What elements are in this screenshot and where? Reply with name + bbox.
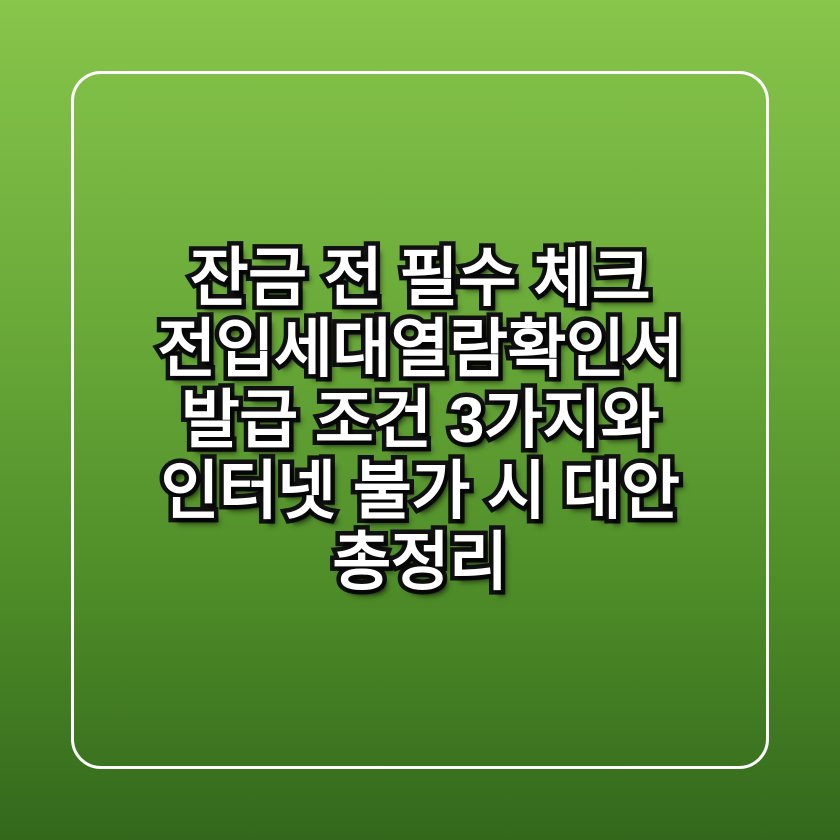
headline-line-2: 전입세대열람확인서 bbox=[78, 314, 762, 385]
headline-line-5: 총정리 bbox=[78, 527, 762, 598]
thumbnail-card: 잔금 전 필수 체크 전입세대열람확인서 발급 조건 3가지와 인터넷 불가 시… bbox=[0, 0, 840, 840]
headline-line-1: 잔금 전 필수 체크 bbox=[78, 243, 762, 314]
headline-line-3: 발급 조건 3가지와 bbox=[78, 385, 762, 456]
headline-block: 잔금 전 필수 체크 전입세대열람확인서 발급 조건 3가지와 인터넷 불가 시… bbox=[0, 0, 840, 840]
headline-line-4: 인터넷 불가 시 대안 bbox=[78, 456, 762, 527]
